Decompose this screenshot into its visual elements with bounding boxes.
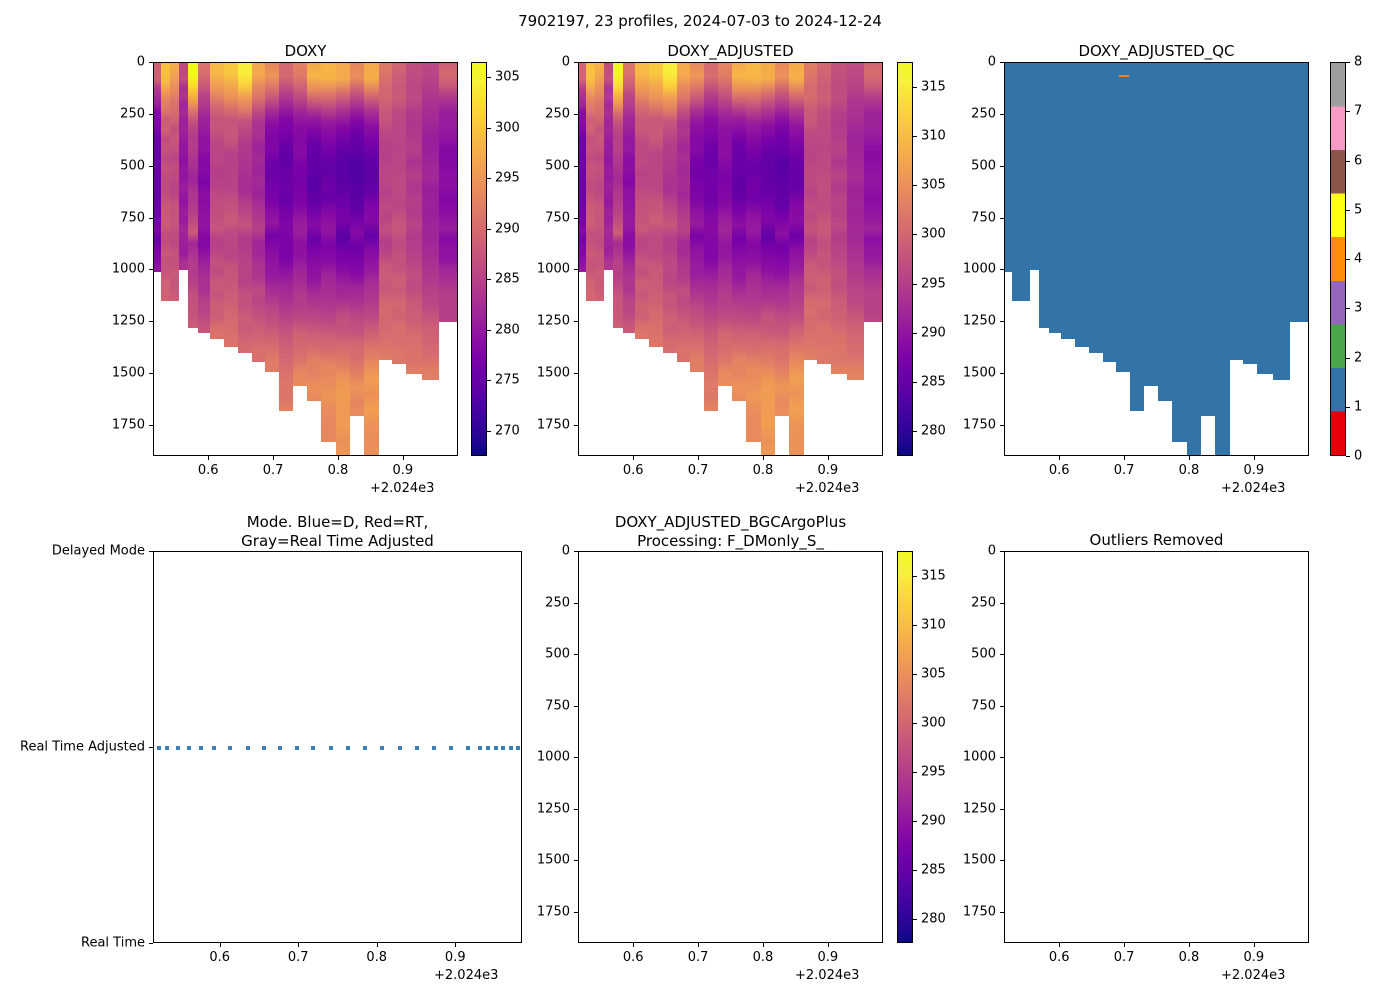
panel-title-mode: Mode. Blue=D, Red=RT, Gray=Real Time Adj… [153,513,522,551]
y-tick-label: 250 [960,106,996,121]
colorbar-tick-label: 305 [921,666,946,681]
y-category-label: Real Time Adjusted [0,740,145,755]
heatmap-column [595,63,604,301]
mode-point [509,746,513,750]
y-tick-mark [149,551,153,552]
y-tick-mark [1000,912,1004,913]
y-tick-mark [149,166,153,167]
x-tick-mark [828,456,829,460]
y-tick-mark [574,321,578,322]
qc-column [1257,63,1273,374]
x-tick-label: 0.7 [263,463,284,478]
colorbar-tick-label: 280 [921,911,946,926]
mode-point [449,746,453,750]
y-tick-label: 0 [960,55,996,70]
y-tick-mark [574,166,578,167]
x-tick-mark [698,456,699,460]
colorbar-tick-label: 7 [1354,104,1362,119]
colorbar-tick-label: 1 [1354,399,1362,414]
qc-column [1089,63,1103,353]
panel-title-doxy_adjusted: DOXY_ADJUSTED [578,42,883,61]
qc-column [1230,63,1244,360]
colorbar-tick-mark [913,821,917,822]
y-category-label: Real Time [0,936,145,951]
colorbar-tick-mark [913,576,917,577]
heatmap-column [623,63,635,333]
panel-title-outliers_removed: Outliers Removed [1004,531,1309,550]
x-tick-mark [763,943,764,947]
x-tick-label: 0.6 [209,950,230,965]
y-tick-label: 1500 [960,853,996,868]
y-tick-mark [574,425,578,426]
x-tick-label: 0.9 [1243,950,1264,965]
colorbar-tick-label: 305 [495,70,520,85]
colorbar-doxy_adjusted_qc [1330,62,1346,456]
y-tick-mark [149,114,153,115]
y-tick-mark [574,373,578,374]
x-tick-mark [1189,943,1190,947]
colorbar-tick-label: 295 [921,764,946,779]
colorbar-tick-label: 295 [495,171,520,186]
mode-point [187,746,191,750]
colorbar-tick-mark [1346,407,1350,408]
colorbar-tick-label: 285 [495,272,520,287]
x-tick-label: 0.9 [1243,463,1264,478]
x-tick-mark [403,456,404,460]
x-tick-mark [338,456,339,460]
qc-column [1144,63,1159,386]
mode-point [478,746,482,750]
colorbar-tick-mark [913,136,917,137]
x-tick-label: 0.9 [817,463,838,478]
colorbar-tick-label: 300 [921,715,946,730]
mode-point [311,746,315,750]
mode-point [295,746,299,750]
y-tick-mark [574,860,578,861]
colorbar-tick-mark [1346,358,1350,359]
colorbar-tick-mark [487,279,491,280]
colorbar-tick-label: 275 [495,373,520,388]
x-tick-label: 0.9 [445,950,466,965]
x-tick-mark [1254,456,1255,460]
heatmap-column [864,63,883,322]
x-tick-label: 0.6 [1049,950,1070,965]
y-tick-label: 0 [534,544,570,559]
heatmap-column [406,63,421,374]
x-tick-label: 0.8 [366,950,387,965]
qc-column [1273,63,1291,380]
heatmap-column [210,63,224,339]
colorbar-tick-label: 3 [1354,301,1362,316]
heatmap-column [789,63,803,456]
x-tick-mark [1189,456,1190,460]
x-tick-mark [828,943,829,947]
x-tick-mark [1254,943,1255,947]
colorbar-tick-label: 270 [495,423,520,438]
mode-point [415,746,419,750]
y-tick-label: 750 [534,698,570,713]
heatmap-column [831,63,846,374]
heatmap-column [635,63,649,339]
axes-bgcargoplus [578,551,883,943]
figure-suptitle: 7902197, 23 profiles, 2024-07-03 to 2024… [0,12,1400,30]
y-tick-label: 1500 [960,366,996,381]
heatmap-column [161,63,169,301]
x-tick-label: 0.9 [392,463,413,478]
x-tick-label: 0.6 [1049,463,1070,478]
x-tick-mark [455,943,456,947]
y-tick-mark [1000,114,1004,115]
heatmap-column [761,63,775,456]
x-tick-mark [208,456,209,460]
mode-point [157,746,161,750]
y-tick-label: 1250 [109,314,145,329]
y-tick-mark [149,425,153,426]
x-tick-label: 0.8 [753,950,774,965]
qc-column [1130,63,1144,411]
y-tick-label: 250 [960,595,996,610]
colorbar-tick-mark [1346,161,1350,162]
heatmap-column [804,63,818,360]
mode-point [165,746,169,750]
colorbar-tick-label: 2 [1354,350,1362,365]
y-tick-mark [574,809,578,810]
qc-column [1215,63,1230,456]
x-tick-label: 0.7 [688,950,709,965]
y-tick-mark [574,269,578,270]
axes-doxy_adjusted_qc [1004,62,1309,456]
colorbar-tick-mark [913,284,917,285]
y-tick-mark [1000,373,1004,374]
colorbar-tick-label: 305 [921,178,946,193]
x-tick-mark [1059,456,1060,460]
y-tick-mark [574,114,578,115]
y-tick-mark [1000,218,1004,219]
qc-column [1030,63,1040,270]
colorbar-tick-label: 295 [921,276,946,291]
y-tick-mark [149,269,153,270]
colorbar-tick-label: 0 [1354,449,1362,464]
qc-flag4-marker [1119,75,1129,77]
heatmap-column [746,63,760,442]
colorbar-tick-mark [913,333,917,334]
x-tick-label: 0.6 [623,950,644,965]
heatmap-column [379,63,393,360]
heatmap-column [170,63,179,301]
mode-point [246,746,250,750]
mode-point [432,746,436,750]
x-tick-label: 0.8 [753,463,774,478]
heatmap-column [198,63,210,333]
x-tick-mark [633,456,634,460]
y-tick-label: 1750 [534,417,570,432]
y-tick-mark [1000,809,1004,810]
colorbar-tick-label: 300 [495,120,520,135]
x-tick-mark [698,943,699,947]
y-tick-label: 1250 [534,314,570,329]
colorbar-tick-mark [1346,210,1350,211]
heatmap-column [604,63,613,270]
qc-column [1243,63,1257,364]
y-tick-label: 750 [960,210,996,225]
mode-point [212,746,216,750]
y-tick-mark [1000,321,1004,322]
colorbar-tick-label: 4 [1354,252,1362,267]
heatmap-column [847,63,864,380]
y-tick-mark [149,321,153,322]
colorbar-tick-label: 315 [921,568,946,583]
qc-column [1158,63,1173,401]
x-tick-mark [298,943,299,947]
heatmap-column [321,63,335,442]
x-axis-offset-label: +2.024e3 [1221,968,1285,983]
y-tick-mark [574,654,578,655]
colorbar-tick-mark [487,431,491,432]
y-tick-mark [1000,425,1004,426]
x-tick-mark [1124,456,1125,460]
y-tick-label: 500 [534,158,570,173]
y-tick-label: 0 [534,55,570,70]
heatmap-column [677,63,691,362]
mode-point [516,746,520,750]
heatmap-column [364,63,378,456]
heatmap-column [422,63,439,380]
mode-point [486,746,490,750]
colorbar-tick-label: 290 [921,325,946,340]
x-tick-mark [1124,943,1125,947]
colorbar-tick-mark [1346,62,1350,63]
colorbar-tick-mark [487,380,491,381]
x-axis-offset-label: +2.024e3 [1221,481,1285,496]
x-tick-label: 0.7 [1114,463,1135,478]
colorbar-tick-mark [913,772,917,773]
heatmap-column [704,63,718,411]
axes-mode [153,551,522,943]
colorbar-tick-mark [1346,259,1350,260]
qc-column [1075,63,1089,347]
figure-canvas: 7902197, 23 profiles, 2024-07-03 to 2024… [0,0,1400,1000]
y-tick-mark [574,912,578,913]
y-tick-mark [574,757,578,758]
colorbar-tick-mark [913,625,917,626]
heatmap-column [649,63,663,347]
colorbar-doxy [471,62,487,456]
qc-column [1201,63,1216,416]
y-tick-mark [1000,62,1004,63]
colorbar-tick-mark [913,870,917,871]
axes-doxy [153,62,458,456]
x-tick-mark [377,943,378,947]
heatmap-column [224,63,238,347]
qc-column [1187,63,1202,456]
colorbar-tick-mark [913,382,917,383]
panel-title-doxy_adjusted_qc: DOXY_ADJUSTED_QC [1004,42,1309,61]
heatmap-column [392,63,406,364]
y-tick-label: 0 [109,55,145,70]
x-tick-label: 0.8 [1179,950,1200,965]
x-axis-offset-label: +2.024e3 [795,968,859,983]
qc-column [1039,63,1050,328]
qc-column [1290,63,1309,322]
heatmap-column [663,63,676,353]
mode-point [176,746,180,750]
y-tick-mark [1000,860,1004,861]
y-tick-mark [149,62,153,63]
heatmap-column [690,63,704,372]
y-tick-label: 750 [109,210,145,225]
y-tick-mark [1000,757,1004,758]
x-tick-mark [273,456,274,460]
x-tick-label: 0.9 [817,950,838,965]
heatmap-column [613,63,623,328]
y-tick-mark [1000,551,1004,552]
y-tick-mark [1000,166,1004,167]
colorbar-tick-mark [487,178,491,179]
y-tick-label: 250 [109,106,145,121]
y-tick-mark [149,218,153,219]
heatmap-column [279,63,293,411]
colorbar-tick-mark [487,128,491,129]
heatmap-column [817,63,831,364]
colorbar-tick-mark [487,330,491,331]
y-tick-label: 250 [534,106,570,121]
colorbar-tick-label: 290 [921,813,946,828]
x-tick-mark [1059,943,1060,947]
colorbar-bgcargoplus [897,551,913,943]
heatmap-column [336,63,350,456]
y-tick-label: 500 [960,647,996,662]
mode-point [501,746,505,750]
y-tick-mark [574,551,578,552]
y-tick-mark [1000,603,1004,604]
x-tick-label: 0.7 [288,950,309,965]
x-tick-mark [633,943,634,947]
heatmap-column [154,63,161,272]
heatmap-column [732,63,746,401]
x-axis-offset-label: +2.024e3 [434,968,498,983]
y-tick-label: 1500 [109,366,145,381]
x-tick-mark [220,943,221,947]
y-tick-mark [574,62,578,63]
colorbar-tick-label: 315 [921,79,946,94]
y-tick-label: 1750 [109,417,145,432]
y-tick-label: 1250 [960,801,996,816]
mode-point [363,746,367,750]
y-tick-label: 750 [960,698,996,713]
mode-point [380,746,384,750]
colorbar-tick-mark [913,234,917,235]
colorbar-tick-mark [1346,308,1350,309]
axes-doxy_adjusted [578,62,883,456]
x-tick-label: 0.7 [688,463,709,478]
y-tick-mark [149,943,153,944]
y-tick-label: 1000 [109,262,145,277]
heatmap-column [718,63,732,386]
y-category-label: Delayed Mode [0,544,145,559]
y-tick-label: 1500 [534,853,570,868]
mode-point [398,746,402,750]
y-tick-label: 500 [960,158,996,173]
colorbar-tick-label: 285 [921,862,946,877]
y-tick-mark [1000,654,1004,655]
y-tick-label: 1000 [534,750,570,765]
colorbar-tick-mark [1346,111,1350,112]
panel-title-bgcargoplus: DOXY_ADJUSTED_BGCArgoPlus Processing: F_… [578,513,883,551]
x-axis-offset-label: +2.024e3 [370,481,434,496]
mode-point [466,746,470,750]
colorbar-tick-mark [487,77,491,78]
y-tick-label: 500 [534,647,570,662]
y-tick-label: 1750 [960,905,996,920]
y-tick-label: 1750 [960,417,996,432]
y-tick-mark [574,603,578,604]
qc-column [1049,63,1062,333]
colorbar-tick-mark [913,919,917,920]
colorbar-tick-label: 5 [1354,202,1362,217]
colorbar-tick-label: 6 [1354,153,1362,168]
heatmap-column [350,63,364,416]
heatmap-column [586,63,594,301]
mode-point [228,746,232,750]
x-tick-label: 0.8 [1179,463,1200,478]
heatmap-column [265,63,279,372]
heatmap-column [775,63,789,416]
colorbar-tick-label: 290 [495,221,520,236]
colorbar-tick-mark [487,229,491,230]
colorbar-tick-mark [913,674,917,675]
mode-point [329,746,333,750]
y-tick-label: 0 [960,544,996,559]
colorbar-tick-mark [913,723,917,724]
y-tick-mark [574,706,578,707]
colorbar-tick-mark [913,431,917,432]
heatmap-column [307,63,321,401]
heatmap-column [252,63,266,362]
x-tick-label: 0.8 [328,463,349,478]
y-tick-mark [1000,269,1004,270]
y-tick-label: 1250 [534,801,570,816]
mode-point [346,746,350,750]
mode-point [199,746,203,750]
heatmap-column [439,63,458,322]
y-tick-label: 1000 [960,262,996,277]
y-tick-label: 1000 [534,262,570,277]
colorbar-doxy_adjusted [897,62,913,456]
x-tick-mark [763,456,764,460]
colorbar-tick-mark [1346,456,1350,457]
y-tick-mark [149,373,153,374]
x-axis-offset-label: +2.024e3 [795,481,859,496]
colorbar-tick-mark [913,185,917,186]
mode-point [494,746,498,750]
qc-column [1116,63,1130,372]
y-tick-mark [1000,706,1004,707]
y-tick-label: 250 [534,595,570,610]
colorbar-tick-label: 8 [1354,55,1362,70]
qc-column [1103,63,1117,362]
heatmap-column [188,63,198,328]
x-tick-label: 0.6 [623,463,644,478]
mode-point [262,746,266,750]
heatmap-column [579,63,586,272]
colorbar-tick-label: 280 [495,322,520,337]
y-tick-mark [574,218,578,219]
y-tick-label: 500 [109,158,145,173]
colorbar-tick-mark [913,87,917,88]
y-tick-label: 1000 [960,750,996,765]
colorbar-tick-label: 285 [921,375,946,390]
qc-column [1061,63,1075,339]
